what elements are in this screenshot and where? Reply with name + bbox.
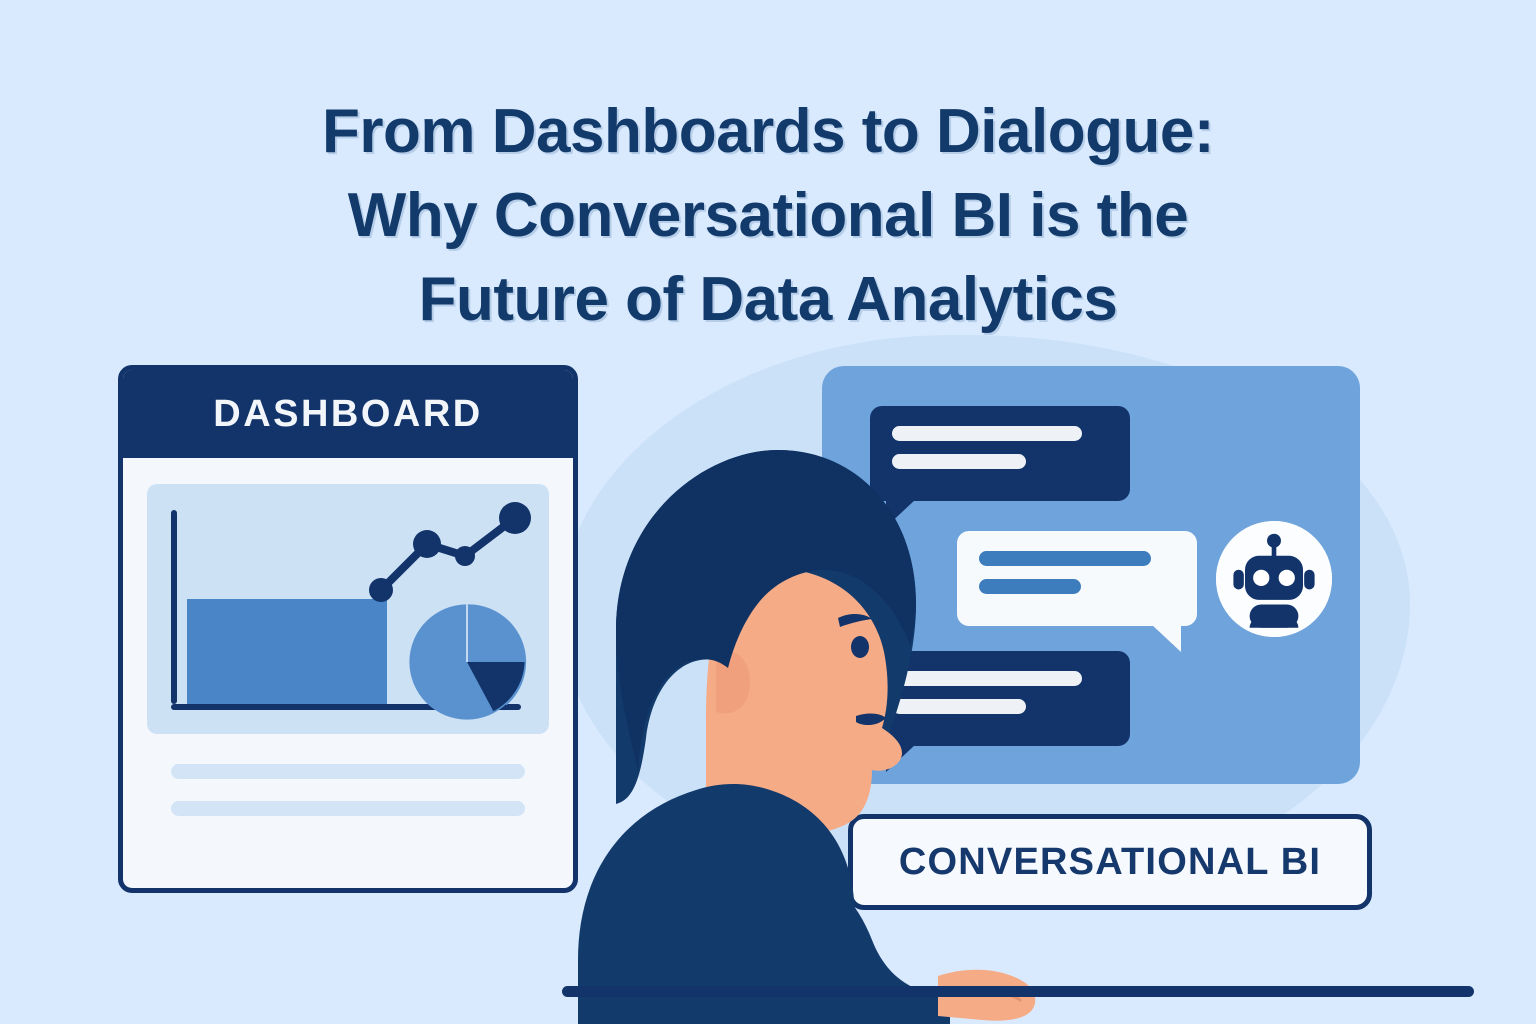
dashboard-header-label: DASHBOARD — [213, 393, 483, 436]
bar-chart — [187, 599, 387, 704]
line-point-2 — [413, 530, 441, 558]
dashboard-body — [123, 458, 573, 816]
eye — [851, 636, 869, 658]
line-chart — [365, 498, 535, 608]
pie-chart — [407, 602, 527, 722]
chart-y-axis — [171, 510, 177, 704]
chat-bubble-tail — [1151, 624, 1181, 652]
line-point-3 — [455, 546, 475, 566]
robot-icon — [1216, 521, 1332, 637]
page-title-line-3: Future of Data Analytics — [0, 258, 1536, 342]
dashboard-header: DASHBOARD — [123, 370, 573, 458]
person-illustration — [520, 420, 1040, 1024]
dashboard-placeholder-row-1 — [171, 764, 525, 779]
page-title-line-1: From Dashboards to Dialogue: — [0, 90, 1536, 174]
page-title: From Dashboards to Dialogue: Why Convers… — [0, 90, 1536, 343]
bar-2 — [237, 624, 271, 704]
poster-canvas: From Dashboards to Dialogue: Why Convers… — [0, 0, 1536, 1024]
line-chart-path — [381, 518, 515, 590]
bar-1 — [187, 644, 221, 704]
dashboard-card[interactable]: DASHBOARD — [118, 365, 578, 893]
bar-3 — [287, 604, 321, 704]
bar-4 — [337, 604, 371, 704]
dashboard-placeholder-row-2 — [171, 801, 525, 816]
dashboard-chart-panel — [147, 484, 549, 734]
woman-profile-icon — [520, 420, 1040, 1024]
desk-surface — [562, 986, 1474, 997]
page-title-line-2: Why Conversational BI is the — [0, 174, 1536, 258]
robot-avatar[interactable] — [1216, 521, 1332, 637]
line-point-1 — [369, 578, 393, 602]
arm — [770, 850, 950, 1024]
